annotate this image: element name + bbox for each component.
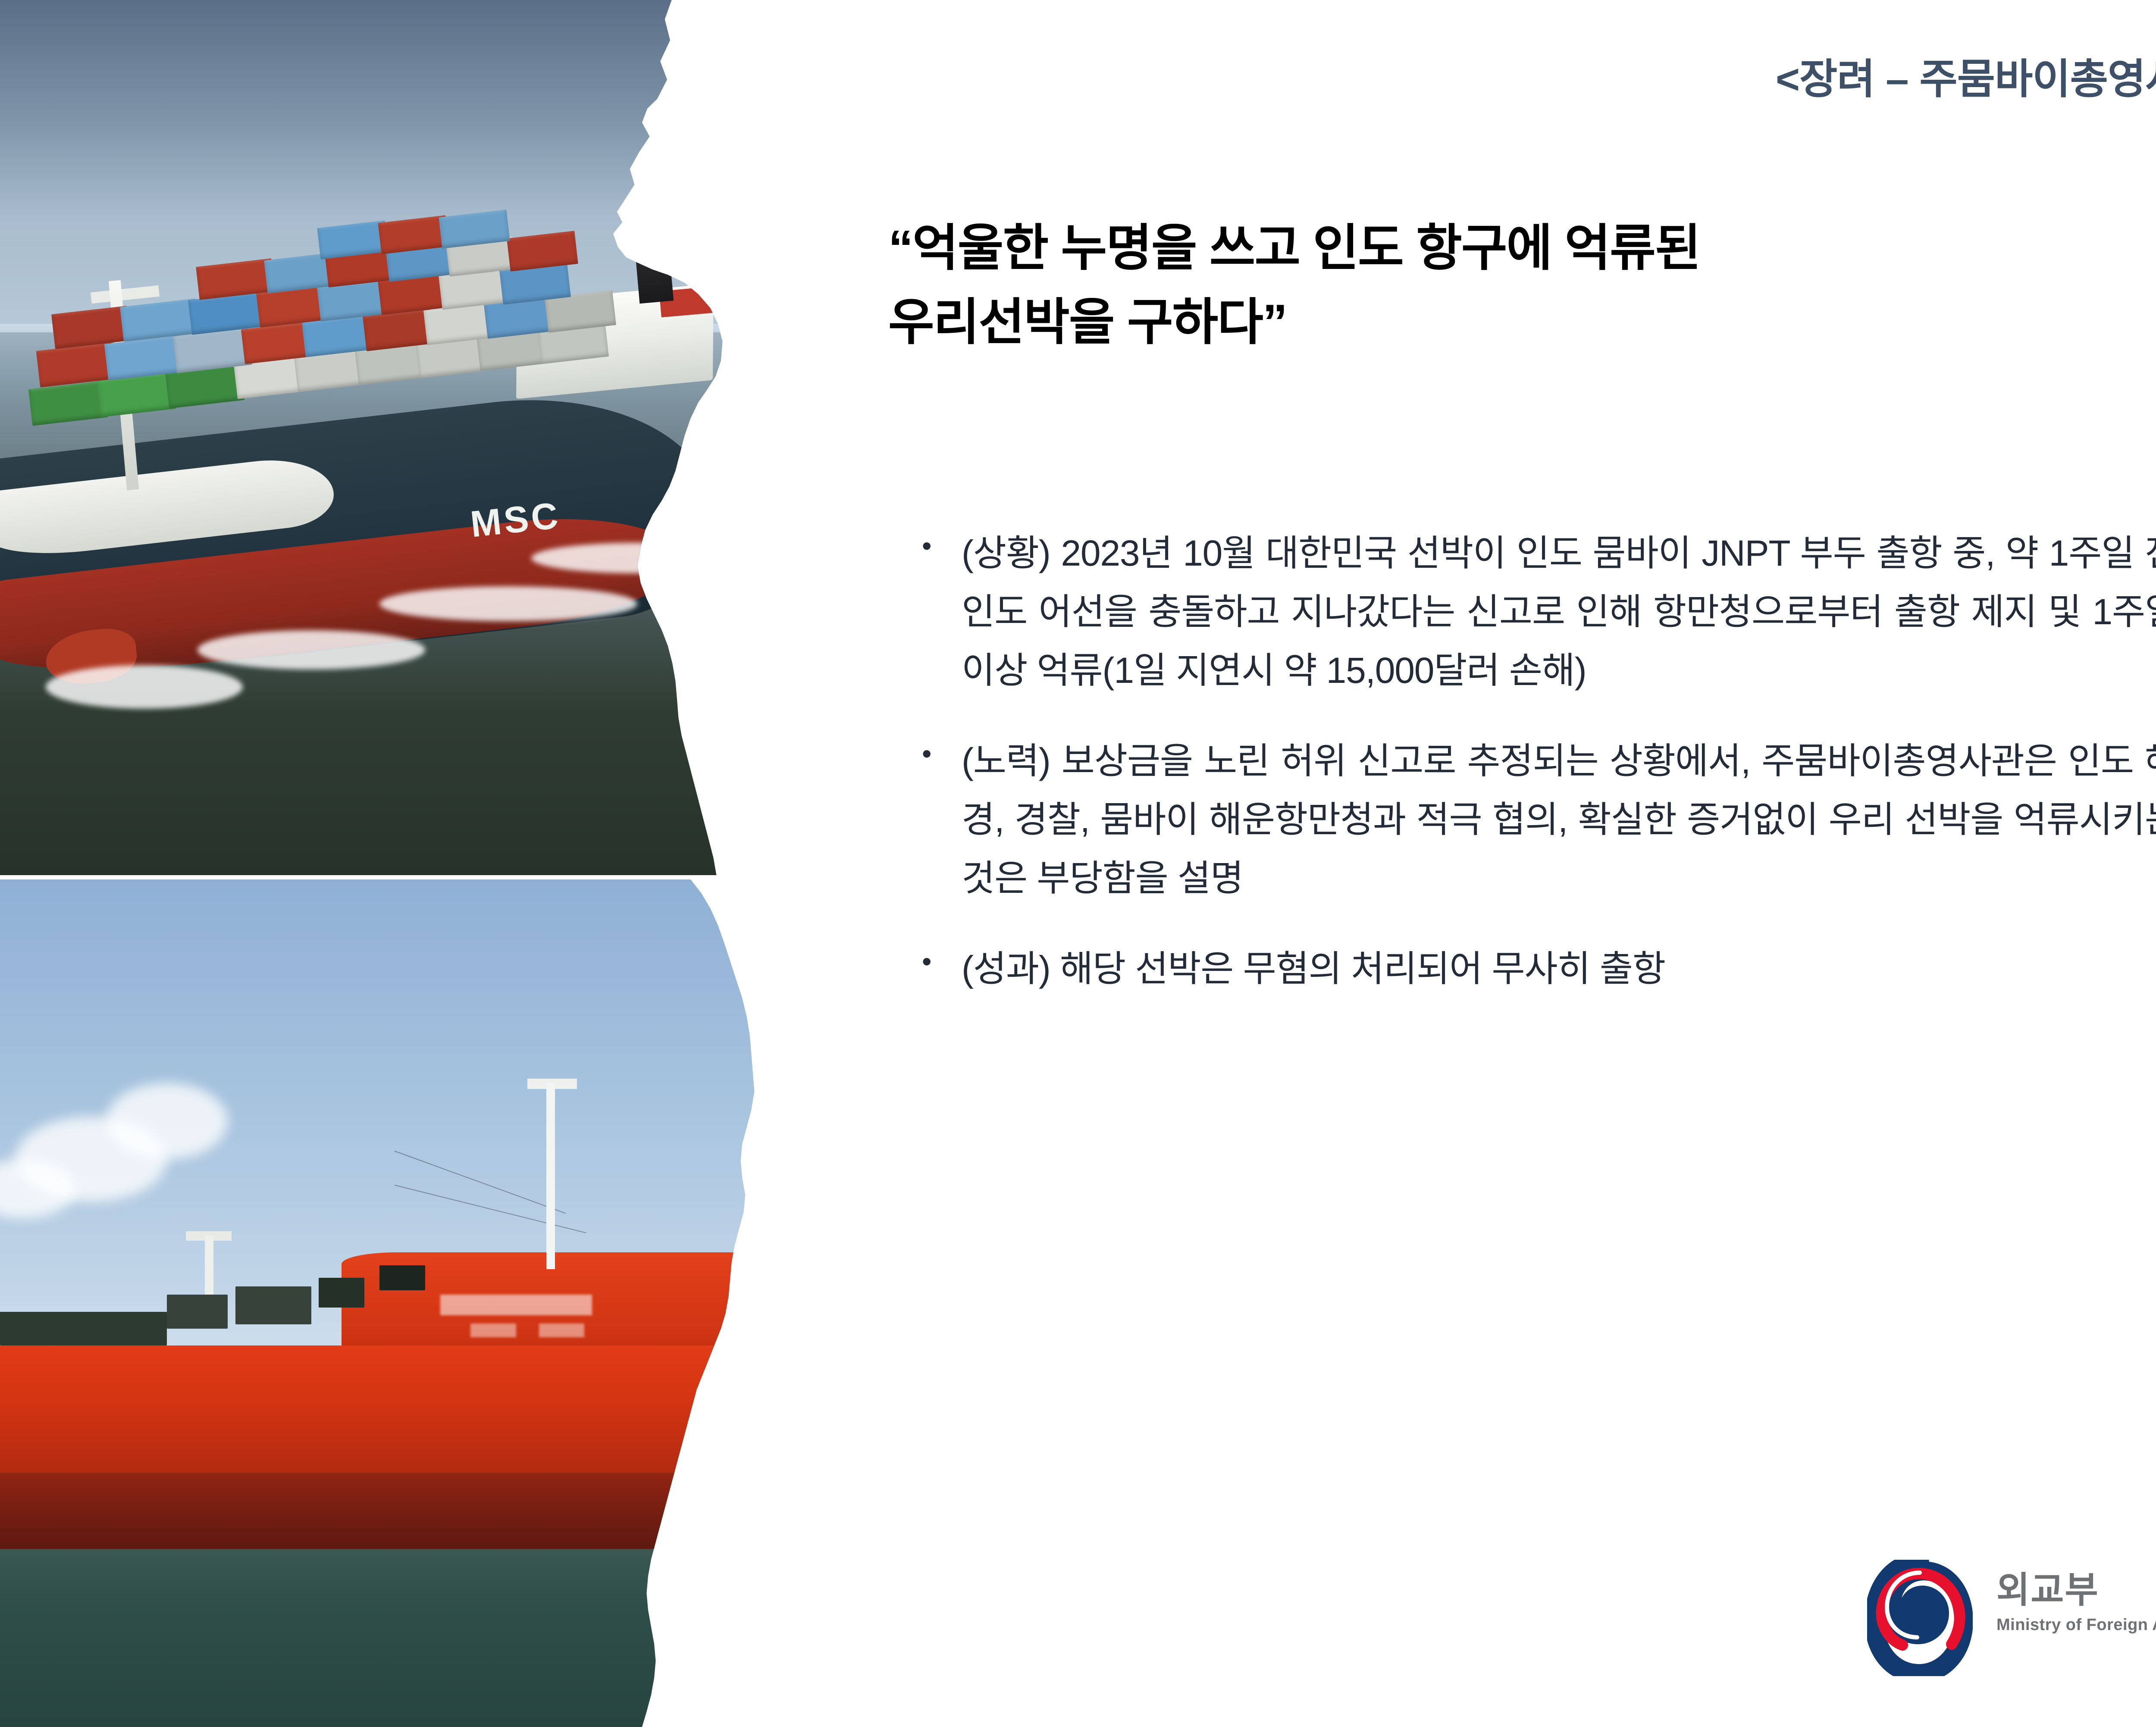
bullet-point-icon: • xyxy=(906,524,962,569)
bullet-text-effort: (노력) 보상금을 노린 허위 신고로 추정되는 상황에서, 주뭄바이총영사관은… xyxy=(962,732,2156,907)
list-item: • (노력) 보상금을 노린 허위 신고로 추정되는 상황에서, 주뭄바이총영사… xyxy=(906,732,2156,907)
logo-english-name: Ministry of Foreign Affairs xyxy=(1996,1616,2156,1634)
bullet-text-result: (성과) 해당 선박은 무혐의 처리되어 무사히 출항 xyxy=(962,939,2156,998)
image-collage: MSC xyxy=(0,0,776,1727)
bullet-point-icon: • xyxy=(906,939,962,984)
page-title-line-1: “억울한 누명을 쓰고 인도 항구에 억류된 xyxy=(888,211,2156,285)
bullet-list: • (상황) 2023년 10월 대한민국 선박이 인도 뭄바이 JNPT 부두… xyxy=(906,524,2156,1030)
page-title-line-2: 우리선박을 구하다” xyxy=(888,285,2156,360)
red-tanker-photo xyxy=(0,879,759,1727)
mofa-logo: 외교부 Ministry of Foreign Affairs xyxy=(1867,1560,2156,1676)
bullet-point-icon: • xyxy=(906,732,962,776)
page-title: “억울한 누명을 쓰고 인도 항구에 억류된 우리선박을 구하다” xyxy=(888,211,2156,359)
bullet-text-situation: (상황) 2023년 10월 대한민국 선박이 인도 뭄바이 JNPT 부두 출… xyxy=(962,524,2156,700)
list-item: • (상황) 2023년 10월 대한민국 선박이 인도 뭄바이 JNPT 부두… xyxy=(906,524,2156,700)
award-category-label: <장려 – 주뭄바이총영사관> xyxy=(1776,46,2156,106)
content-column: <장려 – 주뭄바이총영사관> “억울한 누명을 쓰고 인도 항구에 억류된 우… xyxy=(776,0,2156,1727)
container-ship-photo: MSC xyxy=(0,0,759,875)
logo-korean-name: 외교부 xyxy=(1996,1571,2156,1609)
slide-root: MSC xyxy=(0,0,2156,1727)
list-item: • (성과) 해당 선박은 무혐의 처리되어 무사히 출항 xyxy=(906,939,2156,998)
logo-text-block: 외교부 Ministry of Foreign Affairs xyxy=(1996,1571,2156,1634)
taegeuk-government-symbol-icon xyxy=(1867,1560,1973,1676)
